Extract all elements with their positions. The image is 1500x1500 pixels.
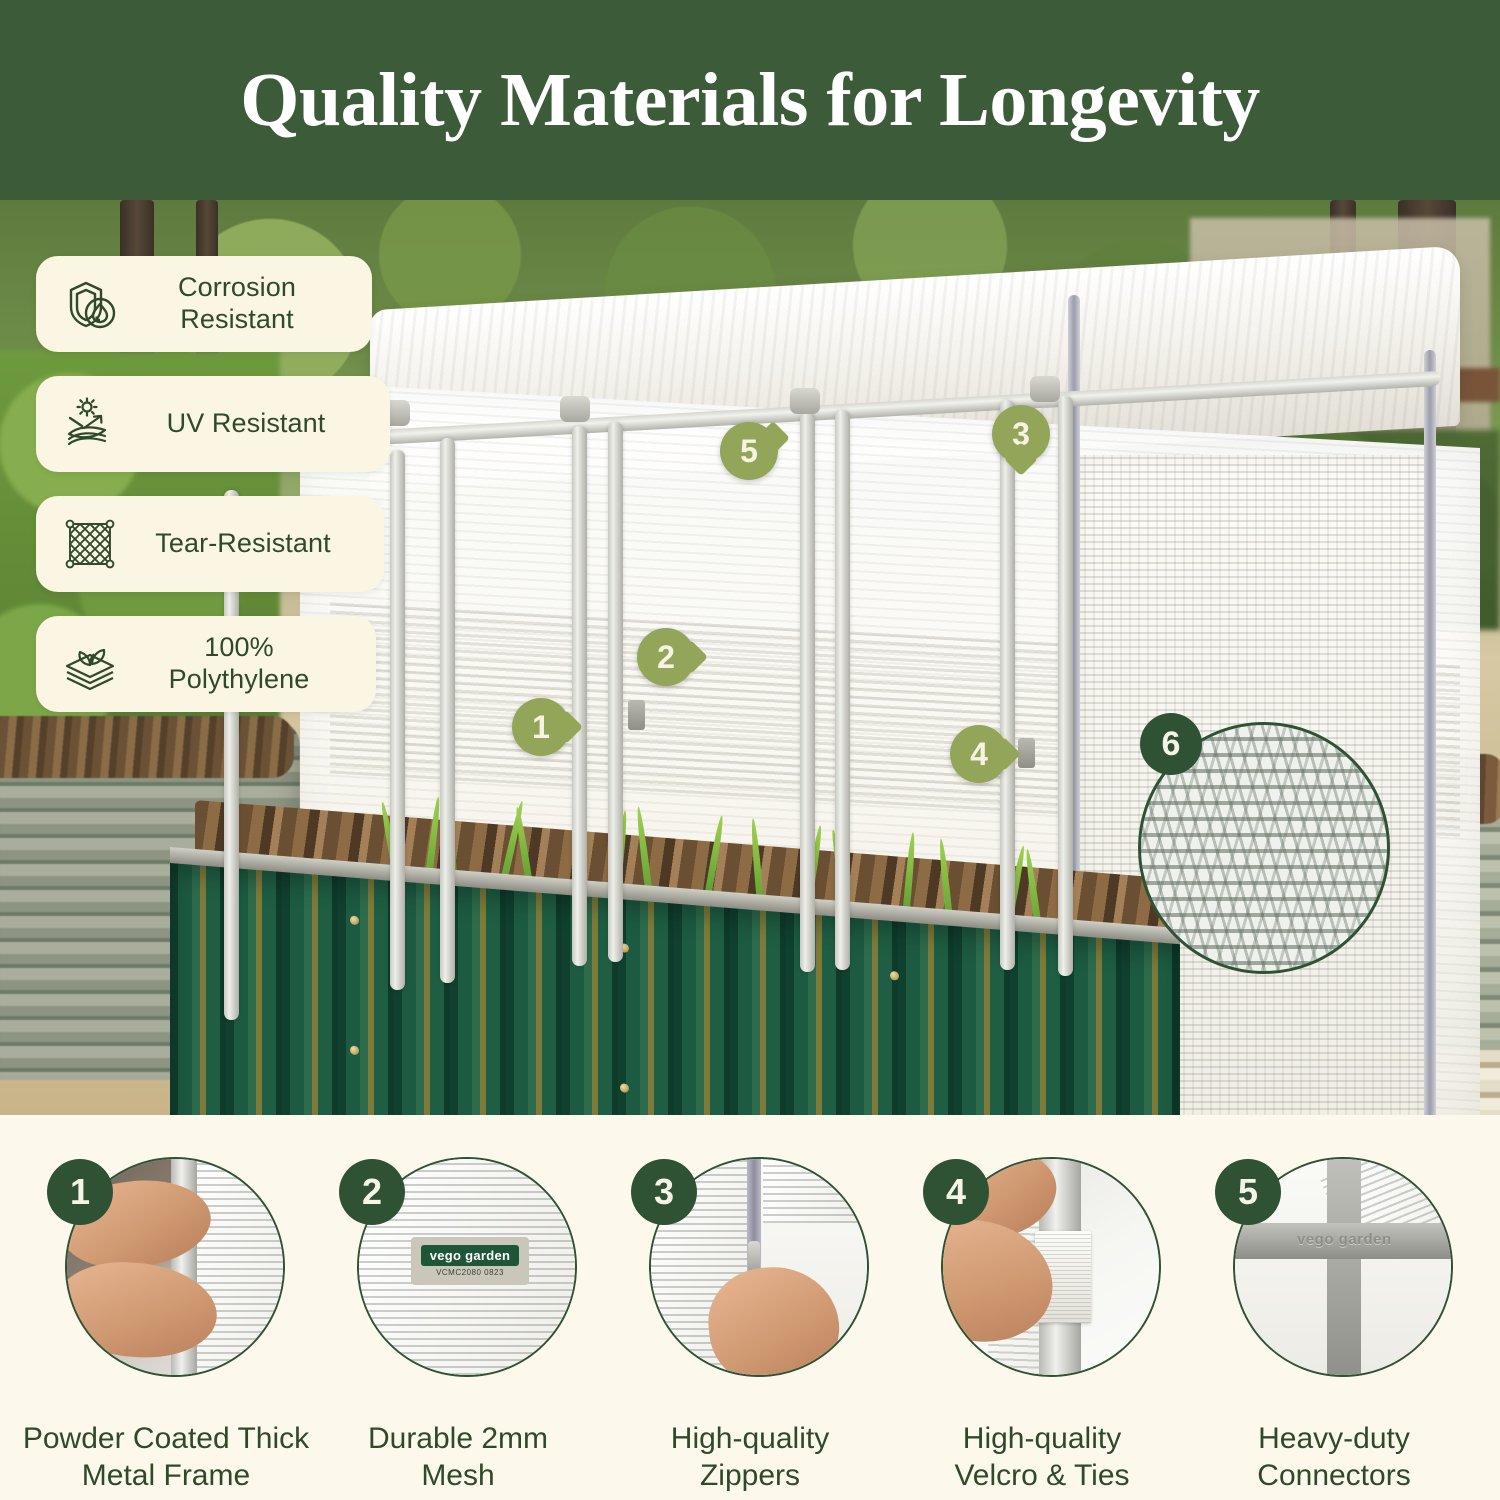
detail-item-3: 3 High-quality Zippers — [604, 1115, 896, 1500]
shield-droplet-icon — [54, 275, 126, 333]
detail-number-2: 2 — [339, 1159, 405, 1225]
detail-item-5: vego garden 5 Heavy-duty Connectors — [1188, 1115, 1480, 1500]
frame-pole — [1000, 400, 1015, 970]
connector-vertical-arm — [1327, 1157, 1361, 1377]
frame-pole — [1058, 396, 1073, 976]
frame-pole — [800, 412, 815, 972]
feature-badge-polythylene: 100% Polythylene — [36, 616, 376, 712]
feature-badge-list: Corrosion Resistant UV Resistant — [36, 256, 396, 736]
detail-number-3: 3 — [631, 1159, 697, 1225]
page-header: Quality Materials for Longevity — [0, 0, 1500, 200]
feature-badge-uv-resistant: UV Resistant — [36, 376, 390, 472]
feature-badge-label: Tear-Resistant — [126, 528, 366, 560]
frame-pole — [440, 438, 455, 983]
detail-caption-1: Powder Coated Thick Metal Frame — [23, 1421, 309, 1494]
detail-caption-2: Durable 2mm Mesh — [368, 1421, 548, 1494]
detail-item-1: 1 Powder Coated Thick Metal Frame — [20, 1115, 312, 1500]
detail-number-1: 1 — [47, 1159, 113, 1225]
frame-connector — [560, 396, 590, 422]
product-photo: Corrosion Resistant UV Resistant — [0, 200, 1500, 1115]
detail-number-4: 4 — [923, 1159, 989, 1225]
feature-badge-corrosion-resistant: Corrosion Resistant — [36, 256, 372, 352]
brand-code: VCMC2080 0823 — [436, 1268, 504, 1277]
brand-name: vego garden — [421, 1245, 520, 1266]
brand-label-tag: vego garden VCMC2080 0823 — [411, 1237, 529, 1285]
photo-marker-4[interactable]: 4 — [950, 725, 1008, 783]
frame-pole — [835, 410, 850, 970]
sun-uv-layer-icon — [54, 395, 126, 453]
frame-pole — [608, 422, 623, 962]
infographic-page: Quality Materials for Longevity — [0, 0, 1500, 1500]
velcro-strap — [1018, 738, 1035, 768]
velcro-strap — [628, 700, 645, 730]
frame-connector — [1030, 376, 1060, 402]
photo-marker-3[interactable]: 3 — [992, 405, 1050, 463]
detail-caption-4: High-quality Velcro & Ties — [954, 1421, 1129, 1494]
detail-thumbnail-strip: 1 Powder Coated Thick Metal Frame vego g… — [0, 1115, 1500, 1500]
frame-pole — [572, 426, 587, 966]
photo-marker-1[interactable]: 1 — [512, 698, 570, 756]
leaf-layers-icon — [54, 635, 126, 693]
feature-badge-label: Corrosion Resistant — [126, 272, 354, 336]
feature-badge-tear-resistant: Tear-Resistant — [36, 496, 384, 592]
detail-caption-3: High-quality Zippers — [671, 1421, 829, 1494]
feature-badge-label: UV Resistant — [126, 408, 372, 440]
feature-badge-label: 100% Polythylene — [126, 632, 358, 696]
end-panel-zipper — [1424, 350, 1436, 1115]
detail-caption-5: Heavy-duty Connectors — [1257, 1421, 1410, 1494]
connector-brand-label: vego garden — [1297, 1231, 1392, 1248]
detail-item-4: 4 High-quality Velcro & Ties — [896, 1115, 1188, 1500]
photo-marker-2[interactable]: 2 — [637, 628, 695, 686]
photo-marker-6[interactable]: 6 — [1140, 713, 1202, 775]
detail-number-5: 5 — [1215, 1159, 1281, 1225]
mesh-net-icon — [54, 515, 126, 573]
photo-marker-5[interactable]: 5 — [720, 422, 778, 480]
page-title: Quality Materials for Longevity — [240, 57, 1260, 144]
frame-connector — [790, 388, 820, 414]
detail-item-2: vego garden VCMC2080 0823 2 Durable 2mm … — [312, 1115, 604, 1500]
